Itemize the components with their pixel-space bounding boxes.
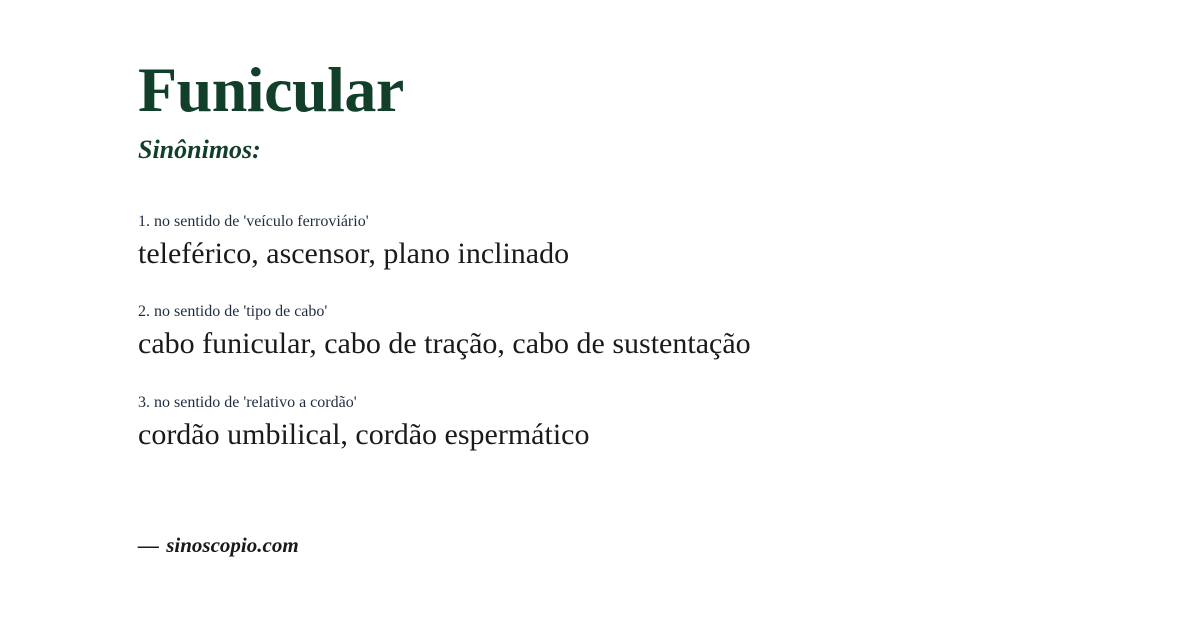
sense-list: 1. no sentido de 'veículo ferroviário' t… bbox=[138, 165, 1140, 454]
list-item: 3. no sentido de 'relativo a cordão' cor… bbox=[138, 393, 1140, 454]
synonym-card: Funicular Sinônimos: 1. no sentido de 'v… bbox=[0, 0, 1200, 628]
sense-synonyms: teleférico, ascensor, plano inclinado bbox=[138, 232, 1140, 273]
sense-label: 2. no sentido de 'tipo de cabo' bbox=[138, 302, 1140, 322]
section-subtitle: Sinônimos: bbox=[138, 122, 1140, 165]
em-dash: — bbox=[138, 533, 161, 557]
list-item: 1. no sentido de 'veículo ferroviário' t… bbox=[138, 212, 1140, 273]
sense-label: 3. no sentido de 'relativo a cordão' bbox=[138, 393, 1140, 413]
source-name: sinoscopio.com bbox=[166, 533, 298, 557]
page-title: Funicular bbox=[138, 0, 1140, 122]
attribution: — sinoscopio.com bbox=[138, 533, 299, 558]
list-item: 2. no sentido de 'tipo de cabo' cabo fun… bbox=[138, 302, 1140, 363]
sense-synonyms: cabo funicular, cabo de tração, cabo de … bbox=[138, 322, 1140, 363]
sense-synonyms: cordão umbilical, cordão espermático bbox=[138, 413, 1140, 454]
sense-label: 1. no sentido de 'veículo ferroviário' bbox=[138, 212, 1140, 232]
